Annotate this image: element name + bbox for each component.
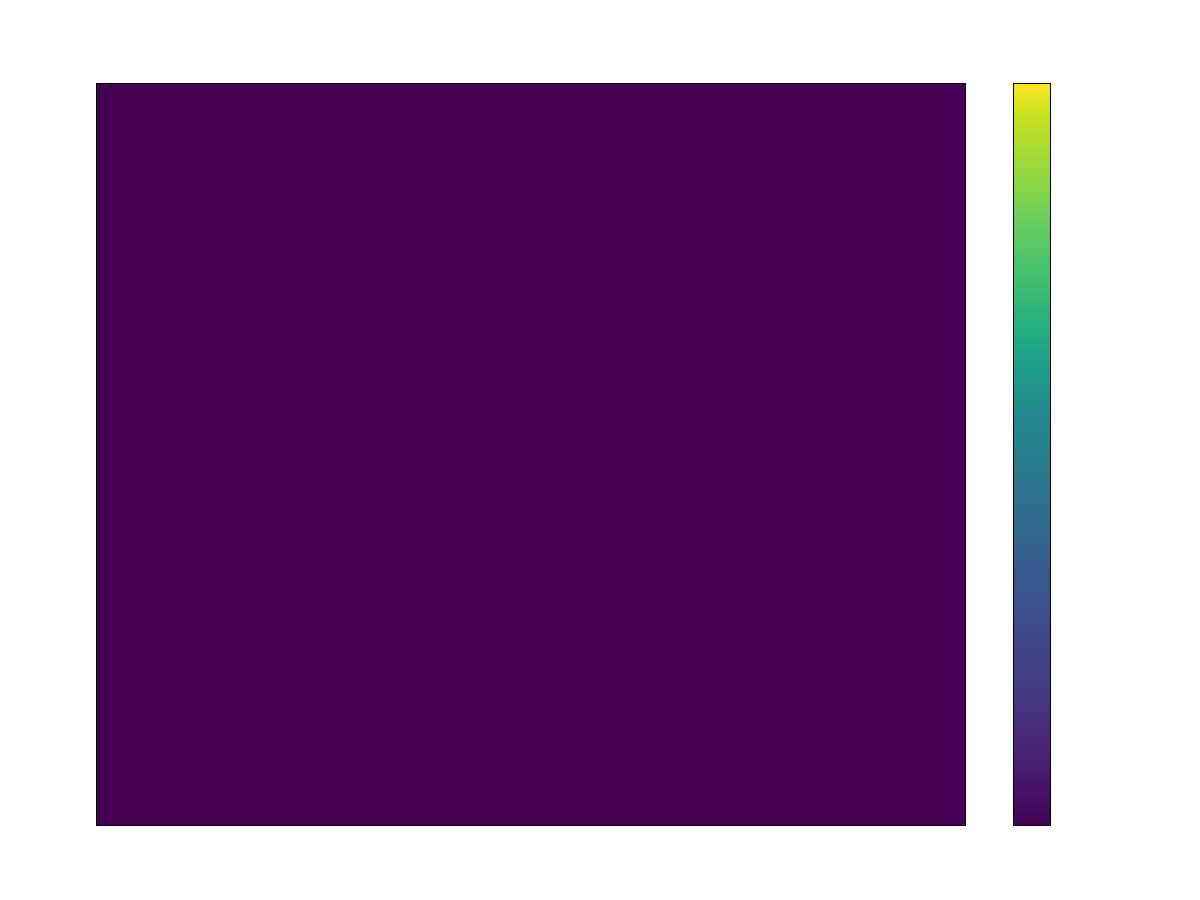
ionogram-plot-area[interactable] [96, 83, 966, 826]
colorbar[interactable] [1013, 83, 1051, 826]
ionogram-heatmap-canvas [97, 84, 965, 825]
ionogram-figure [0, 0, 1200, 900]
